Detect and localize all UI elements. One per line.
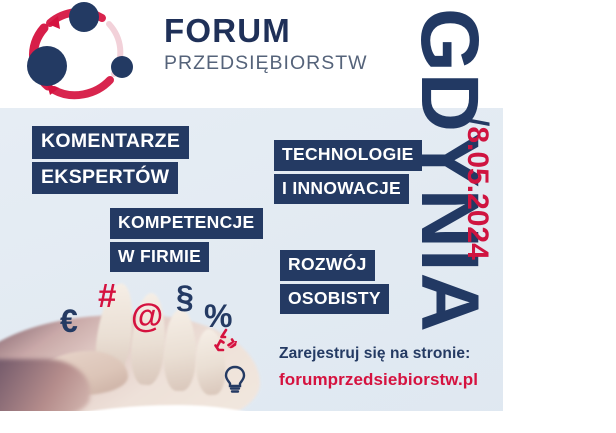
three-dots-circle-brush-logo-icon: [14, 2, 146, 102]
badge-line: ROZWÓJ: [280, 250, 375, 281]
open-upturned-hand-photo: [0, 255, 300, 433]
badge-kompetencje-w-firmie: KOMPETENCJE W FIRMIE: [110, 208, 263, 272]
logo-subtitle: PRZEDSIĘBIORSTW: [164, 54, 368, 74]
registration-block: Zarejestruj się na stronie: forumprzedsi…: [279, 345, 478, 390]
badge-line: W FIRMIE: [110, 242, 209, 273]
euro-icon: €: [60, 305, 78, 337]
badge-line: OSOBISTY: [280, 284, 389, 315]
logo-title: FORUM: [164, 14, 368, 47]
hashtag-icon: #: [98, 279, 116, 312]
brand-logo[interactable]: FORUM PRZEDSIĘBIORSTW: [14, 2, 414, 102]
section-sign-icon: §: [176, 281, 194, 313]
badge-line: KOMENTARZE: [32, 126, 189, 159]
badge-line: KOMPETENCJE: [110, 208, 263, 239]
badge-rozwoj-osobisty: ROZWÓJ OSOBISTY: [280, 250, 389, 314]
at-sign-icon: @: [131, 299, 163, 332]
registration-website-link[interactable]: forumprzedsiebiorstw.pl: [279, 370, 478, 390]
lightbulb-icon: [222, 364, 248, 396]
recycle-leaf-icon: [211, 325, 241, 355]
logo-wordmark: FORUM PRZEDSIĘBIORSTW: [164, 14, 368, 74]
badge-komentarze-ekspertow: KOMENTARZE EKSPERTÓW: [32, 126, 189, 194]
event-date: /8.05.2024: [457, 118, 497, 333]
poster-canvas: FORUM PRZEDSIĘBIORSTW KOMENTARZE EKSPERT…: [0, 0, 616, 433]
date-value: 8.05.2024: [461, 126, 494, 259]
badge-line: EKSPERTÓW: [32, 162, 178, 195]
badge-line: I INNOWACJE: [274, 174, 409, 205]
registration-cta-text: Zarejestruj się na stronie:: [279, 345, 478, 364]
